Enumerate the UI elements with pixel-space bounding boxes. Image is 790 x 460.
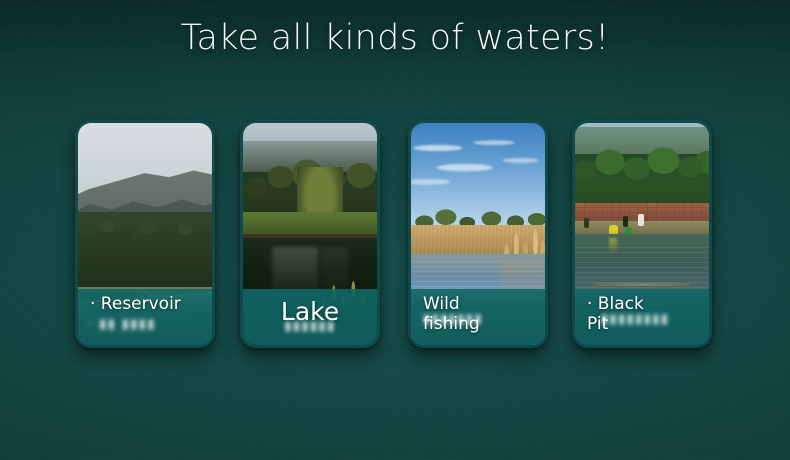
page-title: Take all kinds of waters! xyxy=(0,18,790,58)
card-lake-label-band: Lake ▮▮▮▮▮▮ xyxy=(243,289,377,345)
card-wild-fishing-inner: Wild fishing ▮▮▮▮▮▮▮ xyxy=(411,123,545,345)
card-lake-inner: Lake ▮▮▮▮▮▮ xyxy=(243,123,377,345)
card-lake-label: Lake xyxy=(243,297,377,327)
card-reservoir-inner: · Reservoir · ▮▮ ▮▮▮▮ xyxy=(78,123,212,345)
card-lake[interactable]: Lake ▮▮▮▮▮▮ xyxy=(240,120,380,348)
card-reservoir-sublabel: · ▮▮ ▮▮▮▮ xyxy=(78,317,212,332)
reservoir-forest xyxy=(78,212,212,292)
card-black-pit-label-band: · Black Pit ▮▮▮▮▮▮▮▮ xyxy=(575,289,709,345)
card-black-pit-inner: · Black Pit ▮▮▮▮▮▮▮▮ xyxy=(575,123,709,345)
black-pit-angler-middle xyxy=(623,216,628,227)
black-pit-treeline xyxy=(575,127,709,207)
card-reservoir-label-band: · Reservoir · ▮▮ ▮▮▮▮ xyxy=(78,289,212,345)
card-wild-fishing-label-band: Wild fishing ▮▮▮▮▮▮▮ xyxy=(411,289,545,345)
card-black-pit-label: · Black Pit xyxy=(575,294,709,334)
card-reservoir-label: · Reservoir xyxy=(78,295,212,314)
card-black-pit[interactable]: · Black Pit ▮▮▮▮▮▮▮▮ xyxy=(572,120,712,348)
water-type-card-row: · Reservoir · ▮▮ ▮▮▮▮ Lake ▮▮▮▮▮▮ xyxy=(0,120,790,355)
card-wild-fishing[interactable]: Wild fishing ▮▮▮▮▮▮▮ xyxy=(408,120,548,348)
card-wild-fishing-label: Wild fishing xyxy=(411,294,545,334)
card-reservoir[interactable]: · Reservoir · ▮▮ ▮▮▮▮ xyxy=(75,120,215,348)
black-pit-angler-right xyxy=(638,214,644,226)
black-pit-angler-left xyxy=(584,218,589,228)
